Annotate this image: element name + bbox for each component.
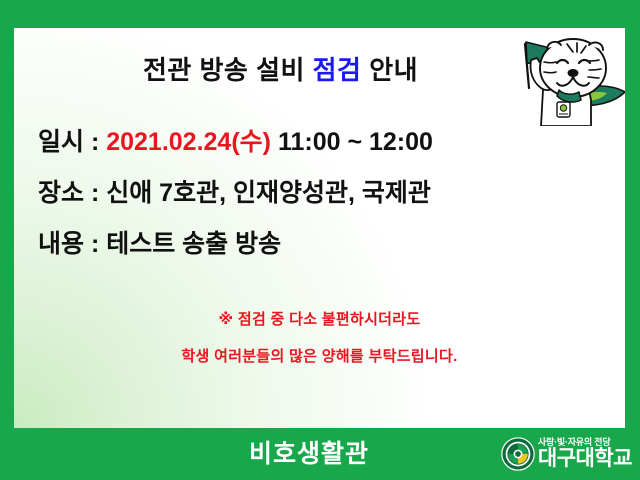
title-highlight: 점검 (313, 55, 362, 85)
notice-poster: 전관 방송 설비 점검 안내 (0, 0, 640, 480)
detail-list: 일시 : 2021.02.24(수) 11:00 ~ 12:00 장소 : 신애… (38, 130, 605, 283)
detail-row-content: 내용 : 테스트 송출 방송 (38, 232, 605, 257)
university-logo-text: 사랑·빛·자유의 전당 대구대학교 (538, 438, 632, 470)
detail-label-location: 장소 : (38, 179, 106, 207)
content-panel: 전관 방송 설비 점검 안내 (14, 28, 625, 428)
detail-row-datetime: 일시 : 2021.02.24(수) 11:00 ~ 12:00 (38, 130, 605, 155)
detail-value-content: 테스트 송출 방송 (106, 230, 281, 258)
detail-label-datetime: 일시 : (38, 128, 106, 156)
white-tiger-mascot-icon (507, 30, 625, 126)
university-name: 대구대학교 (538, 448, 632, 470)
apology-notice: ※ 점검 중 다소 불편하시더라도 학생 여러분들의 많은 양해를 부탁드립니다… (14, 312, 625, 364)
detail-value-location: 신애 7호관, 인재양성관, 국제관 (106, 179, 431, 207)
detail-row-location: 장소 : 신애 7호관, 인재양성관, 국제관 (38, 181, 605, 206)
university-seal-icon (501, 437, 535, 471)
detail-value-time: 11:00 ~ 12:00 (271, 128, 433, 156)
title-part2: 안내 (361, 55, 418, 85)
detail-label-content: 내용 : (38, 230, 106, 258)
notice-line-1: ※ 점검 중 다소 불편하시더라도 (14, 312, 625, 327)
title-part1: 전관 방송 설비 (143, 55, 313, 85)
detail-value-date: 2021.02.24(수) (106, 128, 271, 156)
university-logo: 사랑·빛·자유의 전당 대구대학교 (501, 434, 632, 474)
notice-line-2: 학생 여러분들의 많은 양해를 부탁드립니다. (14, 349, 625, 364)
footer-bar: 비호생활관 사랑·빛·자유의 전당 대구대학교 (0, 428, 640, 480)
panel-inner: 전관 방송 설비 점검 안내 (14, 28, 625, 428)
